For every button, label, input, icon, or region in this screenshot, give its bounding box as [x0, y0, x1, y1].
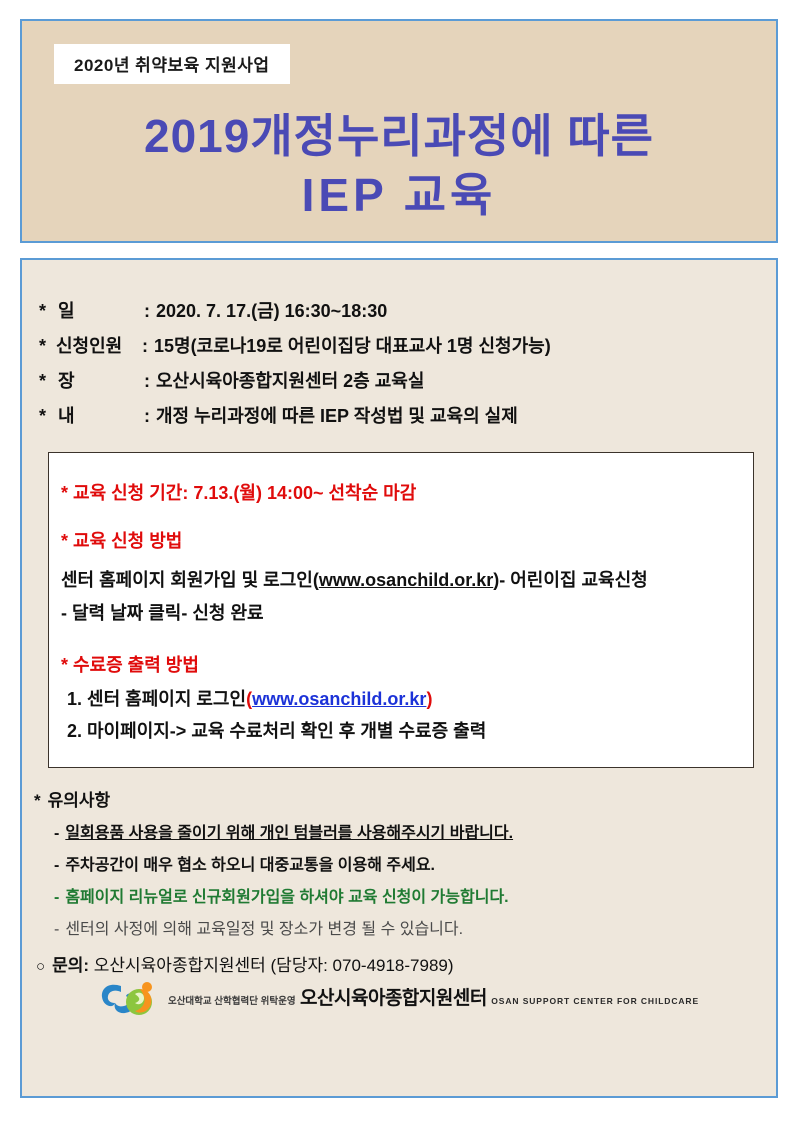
info-value-location: 오산시육아종합지원센터 2층 교육실 — [156, 367, 424, 393]
contact-label: 문의: — [52, 956, 89, 975]
application-period-heading: * 교육 신청 기간: 7.13.(월) 14:00~ 선착순 마감 — [61, 479, 739, 505]
logo-text-block: 오산대학교 산학협력단 위탁운영 오산시육아종합지원센터 OSAN SUPPOR… — [168, 989, 699, 1009]
notice-item: -주차공간이 매우 협소 하오니 대중교통을 이용해 주세요. — [54, 851, 768, 875]
sci-logo-mark-icon — [99, 978, 161, 1020]
page-title: 2019개정누리과정에 따른 IEP 교육 — [22, 107, 776, 225]
bullet-asterisk: * — [34, 791, 41, 810]
bullet-asterisk: * — [39, 336, 56, 357]
poster-page: 2020년 취약보육 지원사업 2019개정누리과정에 따른 IEP 교육 * … — [0, 0, 800, 1132]
application-details-box: * 교육 신청 기간: 7.13.(월) 14:00~ 선착순 마감 * 교육 … — [48, 452, 754, 768]
center-website-link[interactable]: www.osanchild.or.kr — [252, 689, 426, 709]
application-method-line2: - 달력 날짜 클릭- 신청 완료 — [61, 599, 739, 625]
info-row-location: * 장 : 오산시육아종합지원센터 2층 교육실 — [39, 367, 766, 393]
application-method-heading: * 교육 신청 방법 — [61, 527, 739, 553]
circle-bullet-icon: ○ — [36, 958, 45, 975]
apply-text-before: 센터 홈페이지 회원가입 및 로그인( — [61, 570, 319, 590]
info-label-location: 장 — [56, 367, 144, 393]
notice-text: 센터의 사정에 의해 교육일정 및 장소가 변경 될 수 있습니다. — [65, 921, 463, 938]
certificate-step-2: 2. 마이페이지-> 교육 수료처리 확인 후 개별 수료증 출력 — [67, 717, 739, 743]
info-row-content: * 내 : 개정 누리과정에 따른 IEP 작성법 및 교육의 실제 — [39, 402, 766, 428]
bullet-dash: - — [54, 889, 59, 906]
info-label-content: 내 — [56, 402, 144, 428]
cert-step1-text: 1. 센터 홈페이지 로그인 — [67, 689, 246, 709]
notices-heading: *유의사항 — [34, 786, 768, 811]
bullet-asterisk: * — [39, 301, 56, 322]
notice-text: 일회용품 사용을 줄이기 위해 개인 텀블러를 사용해주시기 바랍니다. — [65, 825, 513, 842]
bullet-dash: - — [54, 857, 59, 874]
header-banner: 2020년 취약보육 지원사업 2019개정누리과정에 따른 IEP 교육 — [20, 19, 778, 243]
notices-section: *유의사항 -일회용품 사용을 줄이기 위해 개인 텀블러를 사용해주시기 바랍… — [24, 786, 768, 976]
page-title-line2: IEP 교육 — [22, 166, 776, 225]
notice-item: -센터의 사정에 의해 교육일정 및 장소가 변경 될 수 있습니다. — [54, 915, 768, 939]
contact-row: ○문의: 오산시육아종합지원센터 (담당자: 070-4918-7989) — [36, 951, 768, 976]
bullet-dash: - — [54, 825, 59, 842]
certificate-heading: * 수료증 출력 방법 — [61, 651, 739, 677]
logo-line-operator: 오산대학교 산학협력단 위탁운영 — [168, 996, 296, 1007]
organization-logo: 오산대학교 산학협력단 위탁운영 오산시육아종합지원센터 OSAN SUPPOR… — [22, 978, 776, 1020]
paren-close: ) — [426, 689, 432, 709]
info-colon: : — [142, 336, 148, 357]
info-colon: : — [144, 301, 150, 322]
info-value-capacity: 15명(코로나19로 어린이집당 대표교사 1명 신청가능) — [154, 332, 551, 358]
program-badge: 2020년 취약보육 지원사업 — [54, 44, 290, 84]
logo-line-center-name: 오산시육아종합지원센터 — [300, 988, 487, 1009]
info-label-datetime: 일 — [56, 297, 144, 323]
notice-item-highlight: -홈페이지 리뉴얼로 신규회원가입을 하셔야 교육 신청이 가능합니다. — [54, 883, 768, 907]
info-colon: : — [144, 371, 150, 392]
info-row-capacity: * 신청인원 : 15명(코로나19로 어린이집당 대표교사 1명 신청가능) — [39, 332, 766, 358]
body-panel: * 일 : 2020. 7. 17.(금) 16:30~18:30 * 신청인원… — [20, 258, 778, 1098]
notice-text: 주차공간이 매우 협소 하오니 대중교통을 이용해 주세요. — [65, 857, 435, 874]
info-colon: : — [144, 406, 150, 427]
event-info-list: * 일 : 2020. 7. 17.(금) 16:30~18:30 * 신청인원… — [39, 297, 766, 437]
page-title-line1: 2019개정누리과정에 따른 — [144, 110, 654, 162]
bullet-asterisk: * — [39, 371, 56, 392]
apply-text-after: )- 어린이집 교육신청 — [493, 570, 647, 590]
notices-heading-label: 유의사항 — [48, 791, 111, 810]
center-website-link[interactable]: www.osanchild.or.kr — [319, 570, 493, 590]
contact-value: 오산시육아종합지원센터 (담당자: 070-4918-7989) — [94, 956, 454, 975]
info-value-content: 개정 누리과정에 따른 IEP 작성법 및 교육의 실제 — [156, 402, 518, 428]
info-value-datetime: 2020. 7. 17.(금) 16:30~18:30 — [156, 297, 387, 323]
info-row-datetime: * 일 : 2020. 7. 17.(금) 16:30~18:30 — [39, 297, 766, 323]
info-label-capacity: 신청인원 — [56, 332, 142, 358]
notice-text: 홈페이지 리뉴얼로 신규회원가입을 하셔야 교육 신청이 가능합니다. — [65, 889, 508, 906]
notice-item: -일회용품 사용을 줄이기 위해 개인 텀블러를 사용해주시기 바랍니다. — [54, 819, 768, 843]
bullet-asterisk: * — [39, 406, 56, 427]
application-method-line1: 센터 홈페이지 회원가입 및 로그인(www.osanchild.or.kr)-… — [61, 566, 739, 592]
logo-line-english: OSAN SUPPORT CENTER FOR CHILDCARE — [491, 996, 699, 1006]
bullet-dash: - — [54, 921, 59, 938]
certificate-step-1: 1. 센터 홈페이지 로그인(www.osanchild.or.kr) — [67, 685, 739, 711]
